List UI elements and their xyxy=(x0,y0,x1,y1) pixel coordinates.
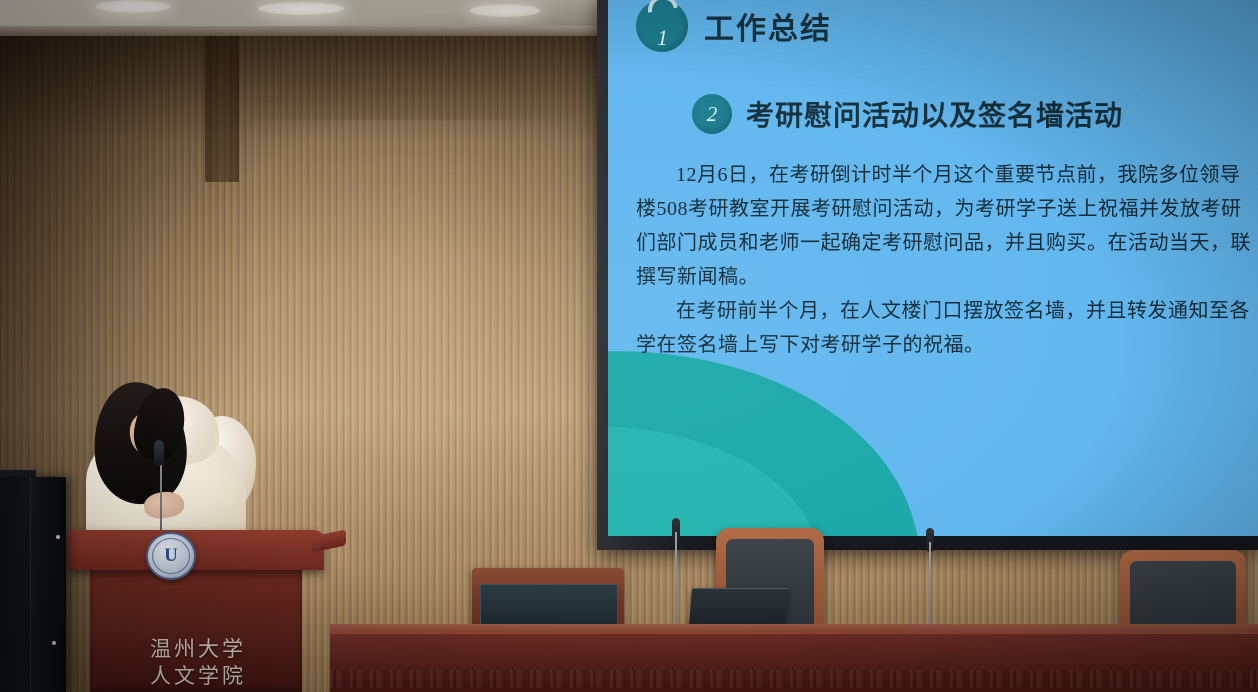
speaker-person xyxy=(78,372,254,542)
ceiling-light-icon xyxy=(96,0,170,13)
slide-heading-1-text: 工作总结 xyxy=(704,4,832,48)
speaker-cabinet xyxy=(0,477,66,692)
podium-inscription: 温州大学 人文学院 xyxy=(108,636,288,690)
university-emblem-icon: U xyxy=(146,532,196,580)
projection-screen: 1 工作总结 2 考研慰问活动以及签名墙活动 12月6日，在考研倒计时半个月这个… xyxy=(597,0,1258,550)
slide-heading-2-text: 考研慰问活动以及签名墙活动 xyxy=(746,94,1123,134)
podium-line-1: 温州大学 xyxy=(108,636,288,663)
badge-number: 1 xyxy=(657,25,668,51)
slide-paragraph-line: 在考研前半个月，在人文楼门口摆放签名墙，并且转发通知至各 xyxy=(636,294,1258,328)
emblem-ring xyxy=(152,538,190,574)
slide-heading-2: 2 考研慰问活动以及签名墙活动 xyxy=(692,94,1123,134)
presentation-slide: 1 工作总结 2 考研慰问活动以及签名墙活动 12月6日，在考研倒计时半个月这个… xyxy=(608,0,1258,536)
slide-paragraph-line: 们部门成员和老师一起确定考研慰问品，并且购买。在活动当天，联 xyxy=(636,226,1258,260)
podium-top xyxy=(68,530,324,570)
ceiling-strip xyxy=(0,0,600,30)
slide-paragraph-line: 12月6日，在考研倒计时半个月这个重要节点前，我院多位领导 xyxy=(636,158,1258,192)
stage-table xyxy=(330,632,1258,692)
cabinet-screw-icon xyxy=(52,641,56,645)
slide-paragraph-line: 楼508考研教室开展考研慰问活动，为考研学子送上祝福并发放考研 xyxy=(636,192,1258,226)
badge-number: 2 xyxy=(707,102,718,127)
slide-heading-1: 1 工作总结 xyxy=(636,0,832,52)
wall-column xyxy=(205,22,239,182)
slide-paragraph-line: 撰写新闻稿。 xyxy=(636,260,1258,294)
monitor-screen xyxy=(480,584,618,626)
slide-body-text: 12月6日，在考研倒计时半个月这个重要节点前，我院多位领导 楼508考研教室开展… xyxy=(636,158,1258,362)
section-number-badge-2: 2 xyxy=(692,94,732,134)
slide-paragraph-line: 学在签名墙上写下对考研学子的祝福。 xyxy=(636,328,1258,362)
ceiling-light-icon xyxy=(470,4,540,17)
podium-microphone-head-icon xyxy=(154,440,164,466)
lecture-hall-photo: 1 工作总结 2 考研慰问活动以及签名墙活动 12月6日，在考研倒计时半个月这个… xyxy=(0,0,1258,692)
section-number-badge-1: 1 xyxy=(636,0,688,52)
microphone-stalk xyxy=(675,532,677,632)
cabinet-screw-icon xyxy=(56,535,60,539)
table-carved-trim xyxy=(330,670,1258,688)
podium-line-2: 人文学院 xyxy=(108,663,288,690)
ceiling-light-icon xyxy=(258,2,344,15)
